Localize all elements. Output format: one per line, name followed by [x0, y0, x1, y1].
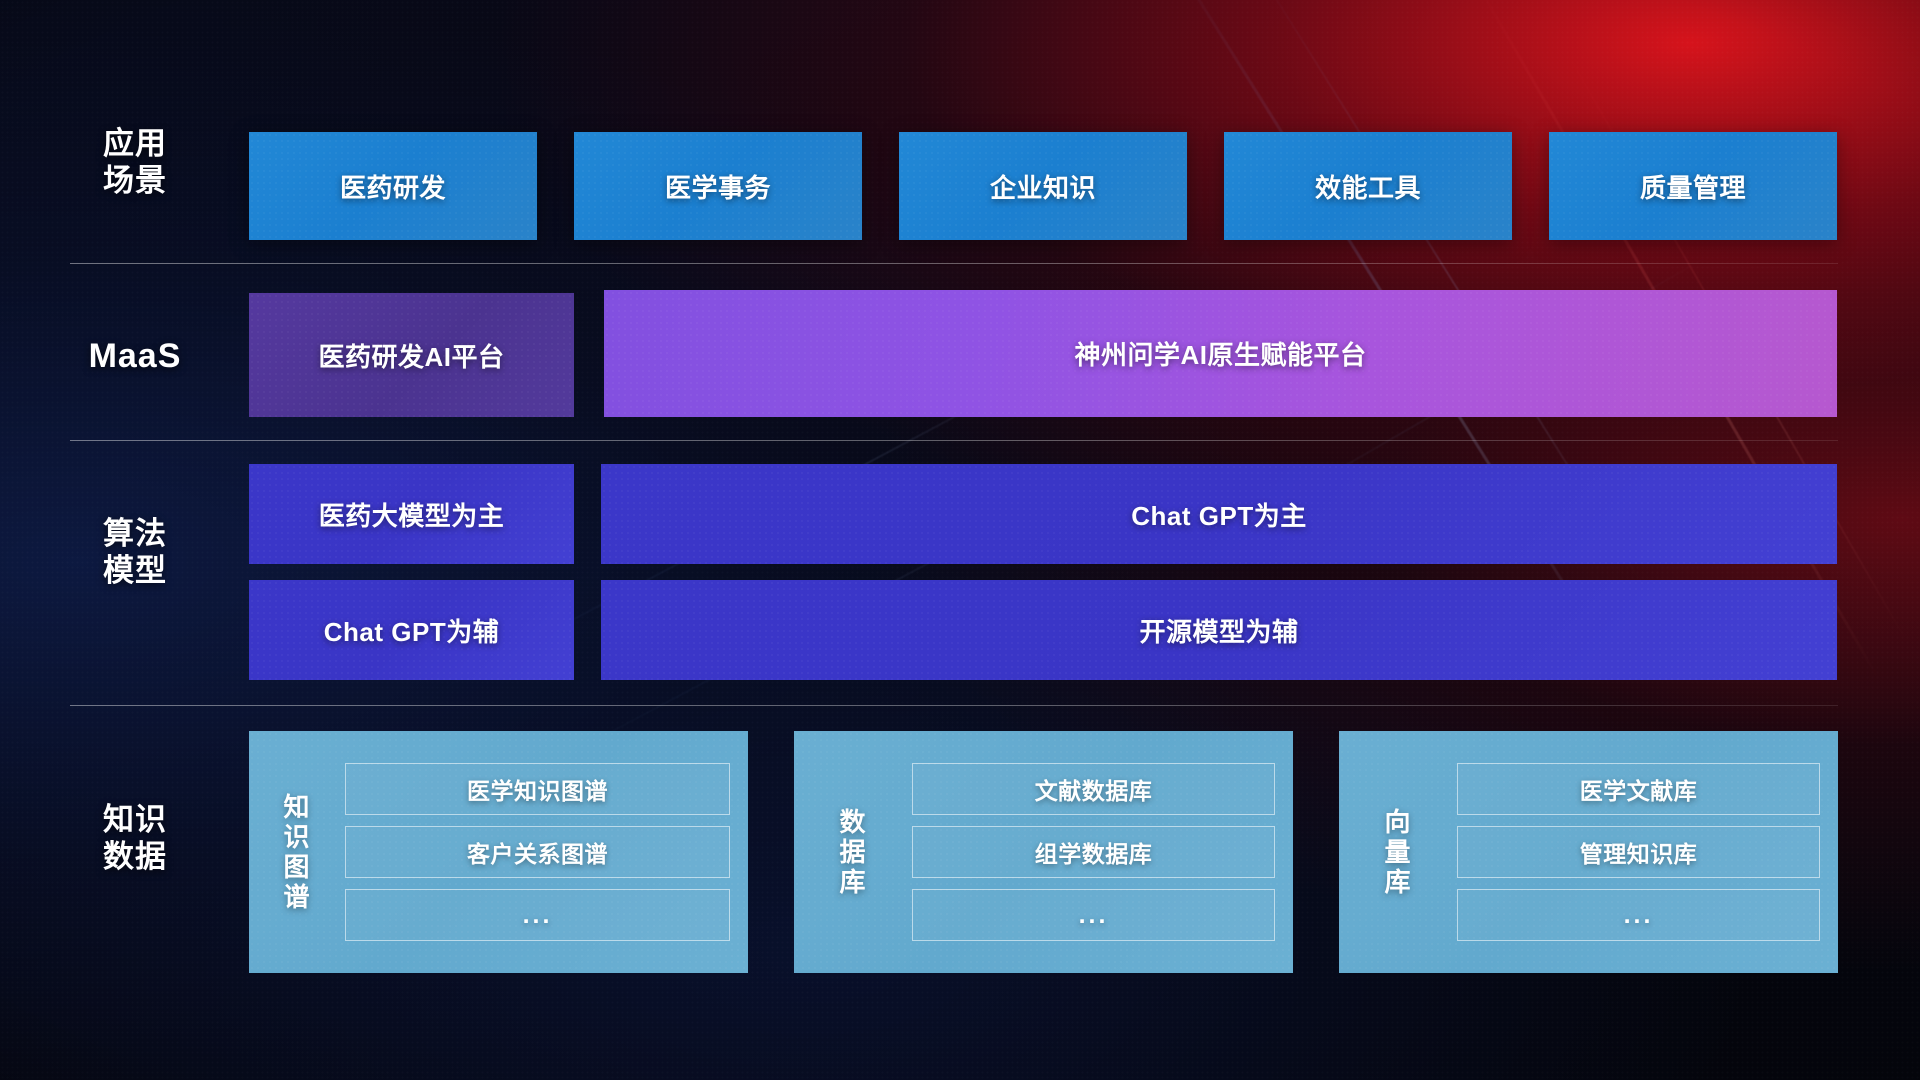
row-label-algorithm: 算法 模型: [70, 516, 200, 589]
row-label-application: 应用 场景: [70, 126, 200, 199]
app-box-3[interactable]: 效能工具: [1224, 132, 1512, 240]
knowledge-group-2-label: 向 量 库: [1339, 731, 1457, 973]
maas-box-1[interactable]: 神州问学AI原生赋能平台: [604, 290, 1837, 417]
algo-box-3[interactable]: 开源模型为辅: [601, 580, 1837, 680]
knowledge-item-0-0[interactable]: 医学知识图谱: [345, 763, 730, 815]
knowledge-item-1-1[interactable]: 组学数据库: [912, 826, 1275, 878]
knowledge-group-1: 数 据 库 文献数据库 组学数据库 ...: [794, 731, 1293, 973]
knowledge-group-1-label: 数 据 库: [794, 731, 912, 973]
algo-box-0[interactable]: 医药大模型为主: [249, 464, 574, 564]
knowledge-item-2-1[interactable]: 管理知识库: [1457, 826, 1820, 878]
row-label-maas: MaaS: [70, 336, 200, 376]
knowledge-group-2-items: 医学文献库 管理知识库 ...: [1457, 731, 1838, 973]
app-box-2[interactable]: 企业知识: [899, 132, 1187, 240]
maas-box-0[interactable]: 医药研发AI平台: [249, 293, 574, 417]
knowledge-group-0-label: 知 识 图 谱: [249, 731, 345, 973]
app-box-0[interactable]: 医药研发: [249, 132, 537, 240]
knowledge-item-1-0[interactable]: 文献数据库: [912, 763, 1275, 815]
knowledge-item-2-2[interactable]: ...: [1457, 889, 1820, 941]
app-box-4[interactable]: 质量管理: [1549, 132, 1837, 240]
knowledge-item-2-0[interactable]: 医学文献库: [1457, 763, 1820, 815]
knowledge-group-0: 知 识 图 谱 医学知识图谱 客户关系图谱 ...: [249, 731, 748, 973]
knowledge-group-0-items: 医学知识图谱 客户关系图谱 ...: [345, 731, 748, 973]
divider-1: [70, 263, 1838, 264]
knowledge-group-1-items: 文献数据库 组学数据库 ...: [912, 731, 1293, 973]
knowledge-item-1-2[interactable]: ...: [912, 889, 1275, 941]
divider-2: [70, 440, 1838, 441]
knowledge-group-2: 向 量 库 医学文献库 管理知识库 ...: [1339, 731, 1838, 973]
row-label-knowledge: 知识 数据: [70, 802, 200, 875]
architecture-diagram: 应用 场景 医药研发 医学事务 企业知识 效能工具 质量管理 MaaS 医药研发…: [0, 0, 1920, 1080]
algo-box-2[interactable]: Chat GPT为辅: [249, 580, 574, 680]
algo-box-1[interactable]: Chat GPT为主: [601, 464, 1837, 564]
knowledge-item-0-1[interactable]: 客户关系图谱: [345, 826, 730, 878]
divider-3: [70, 705, 1838, 706]
app-box-1[interactable]: 医学事务: [574, 132, 862, 240]
knowledge-item-0-2[interactable]: ...: [345, 889, 730, 941]
